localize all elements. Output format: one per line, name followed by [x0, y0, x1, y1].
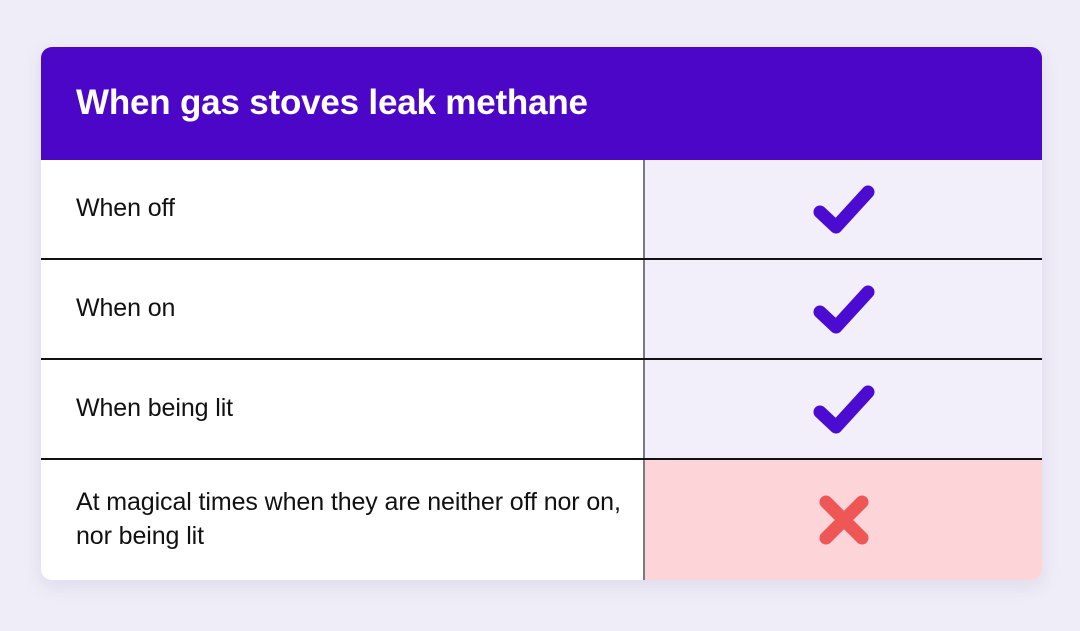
- cross-icon: [815, 491, 873, 549]
- table-header: When gas stoves leak methane: [41, 47, 1042, 160]
- table-cell-condition: At magical times when they are neither o…: [41, 460, 645, 580]
- table-body: When off When on: [41, 160, 1042, 580]
- table-cell-condition: When on: [41, 260, 645, 358]
- table-cell-condition: When off: [41, 160, 645, 258]
- table-cell-status: [645, 260, 1042, 358]
- comparison-table-card: When gas stoves leak methane When off Wh…: [41, 47, 1042, 580]
- table-row: When on: [41, 260, 1042, 360]
- table-cell-status: [645, 460, 1042, 580]
- row-label: When being lit: [76, 392, 233, 426]
- check-icon: [812, 183, 876, 235]
- table-row: When being lit: [41, 360, 1042, 460]
- table-row: At magical times when they are neither o…: [41, 460, 1042, 580]
- row-label: When off: [76, 192, 175, 226]
- row-label: At magical times when they are neither o…: [76, 486, 625, 554]
- row-label: When on: [76, 292, 175, 326]
- check-icon: [812, 383, 876, 435]
- table-cell-condition: When being lit: [41, 360, 645, 458]
- page-root: When gas stoves leak methane When off Wh…: [0, 0, 1080, 631]
- table-cell-status: [645, 360, 1042, 458]
- check-icon: [812, 283, 876, 335]
- table-row: When off: [41, 160, 1042, 260]
- table-cell-status: [645, 160, 1042, 258]
- page-title: When gas stoves leak methane: [76, 84, 588, 123]
